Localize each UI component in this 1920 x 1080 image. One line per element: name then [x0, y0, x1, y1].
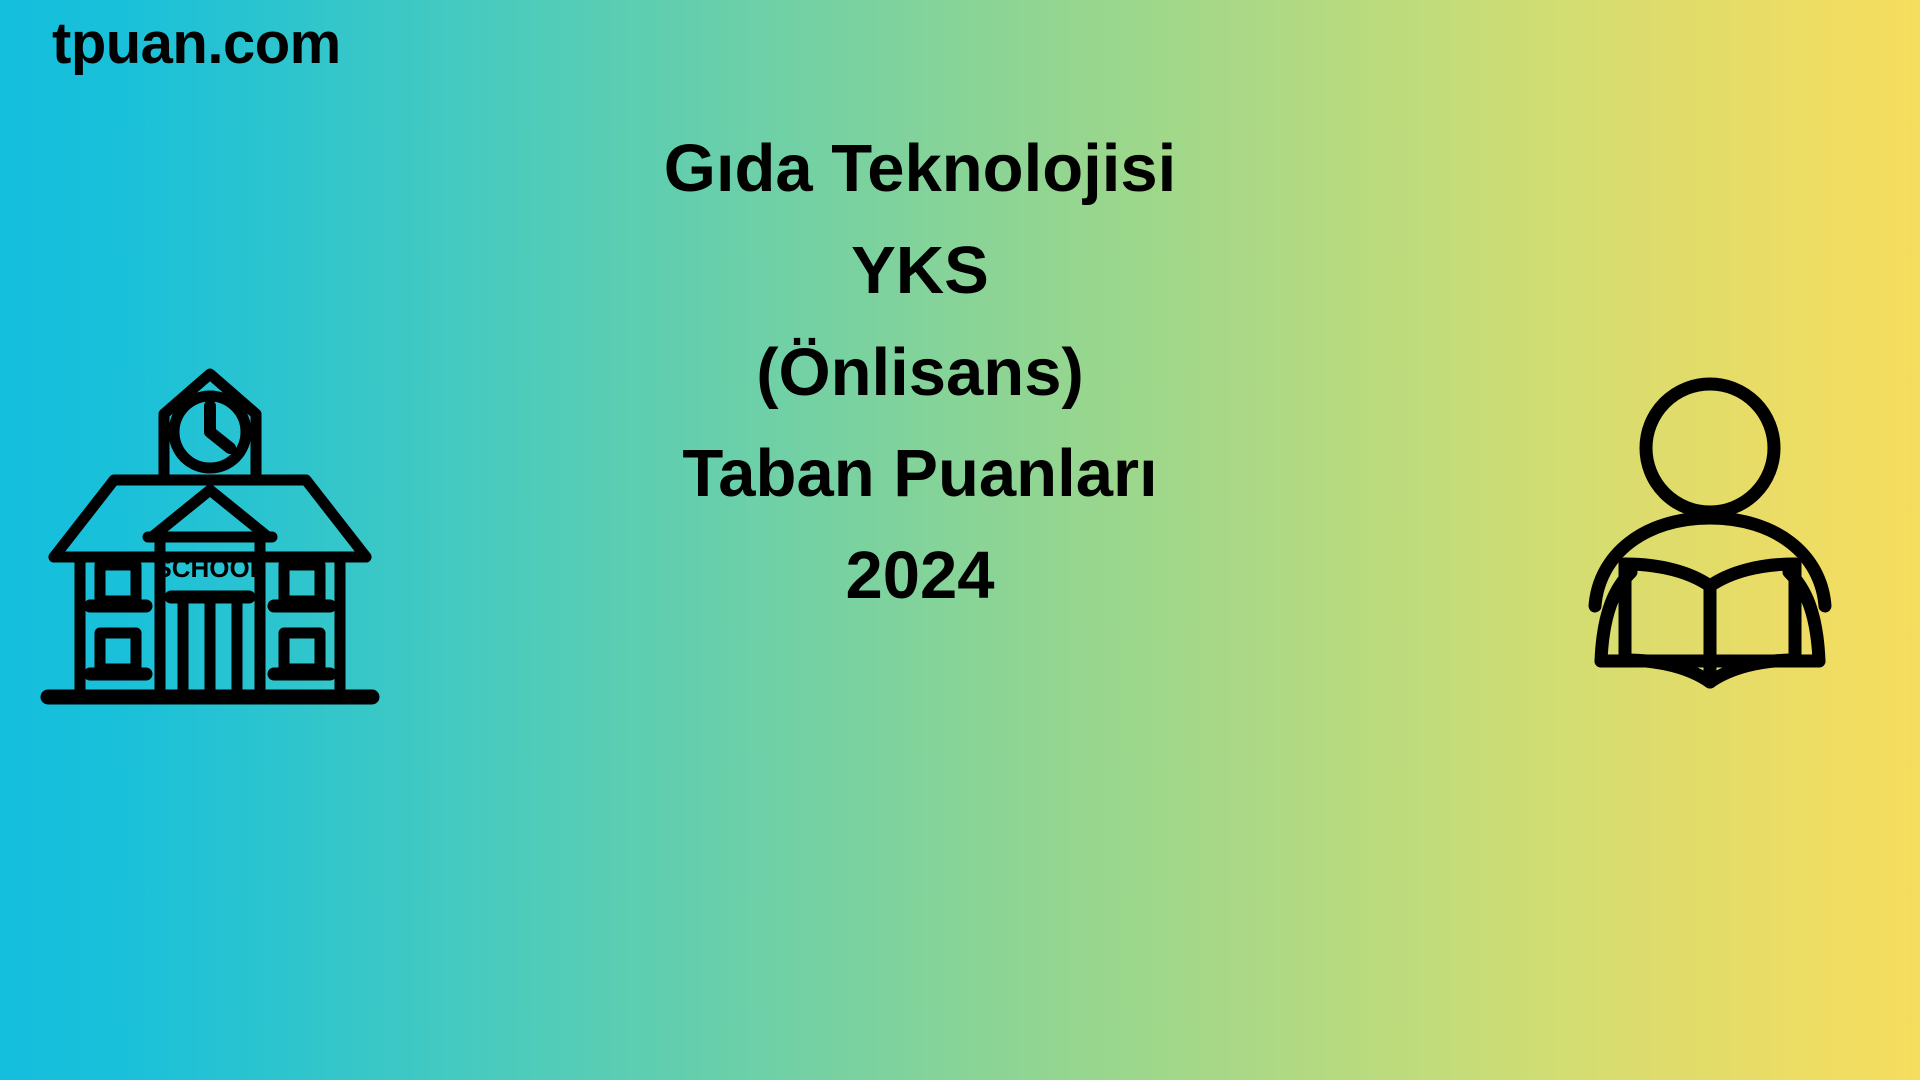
window-bottom-right — [284, 633, 320, 669]
title-line-year: 2024 — [500, 525, 1340, 627]
window-top-left — [100, 565, 136, 601]
person-reading-book-icon — [1565, 376, 1855, 696]
school-sign-label: SCHOOL — [154, 553, 265, 583]
title-line-metric: Taban Puanları — [500, 423, 1340, 525]
window-bottom-left — [100, 633, 136, 669]
page-title: Gıda Teknolojisi YKS (Önlisans) Taban Pu… — [500, 118, 1340, 627]
portico-roof-shape — [152, 490, 268, 537]
title-line-program: Gıda Teknolojisi — [500, 118, 1340, 220]
banner-graphic: tpuan.com SCHOOL — [0, 0, 1920, 1080]
clock-hands-icon — [210, 406, 230, 448]
title-line-exam: YKS — [500, 220, 1340, 322]
person-reading-book-svg — [1565, 376, 1855, 696]
school-building-svg: SCHOOL — [40, 352, 380, 712]
title-line-level: (Önlisans) — [500, 322, 1340, 424]
school-building-icon: SCHOOL — [40, 352, 380, 712]
site-logo: tpuan.com — [52, 12, 341, 76]
head-icon — [1646, 384, 1774, 512]
window-top-right — [284, 565, 320, 601]
